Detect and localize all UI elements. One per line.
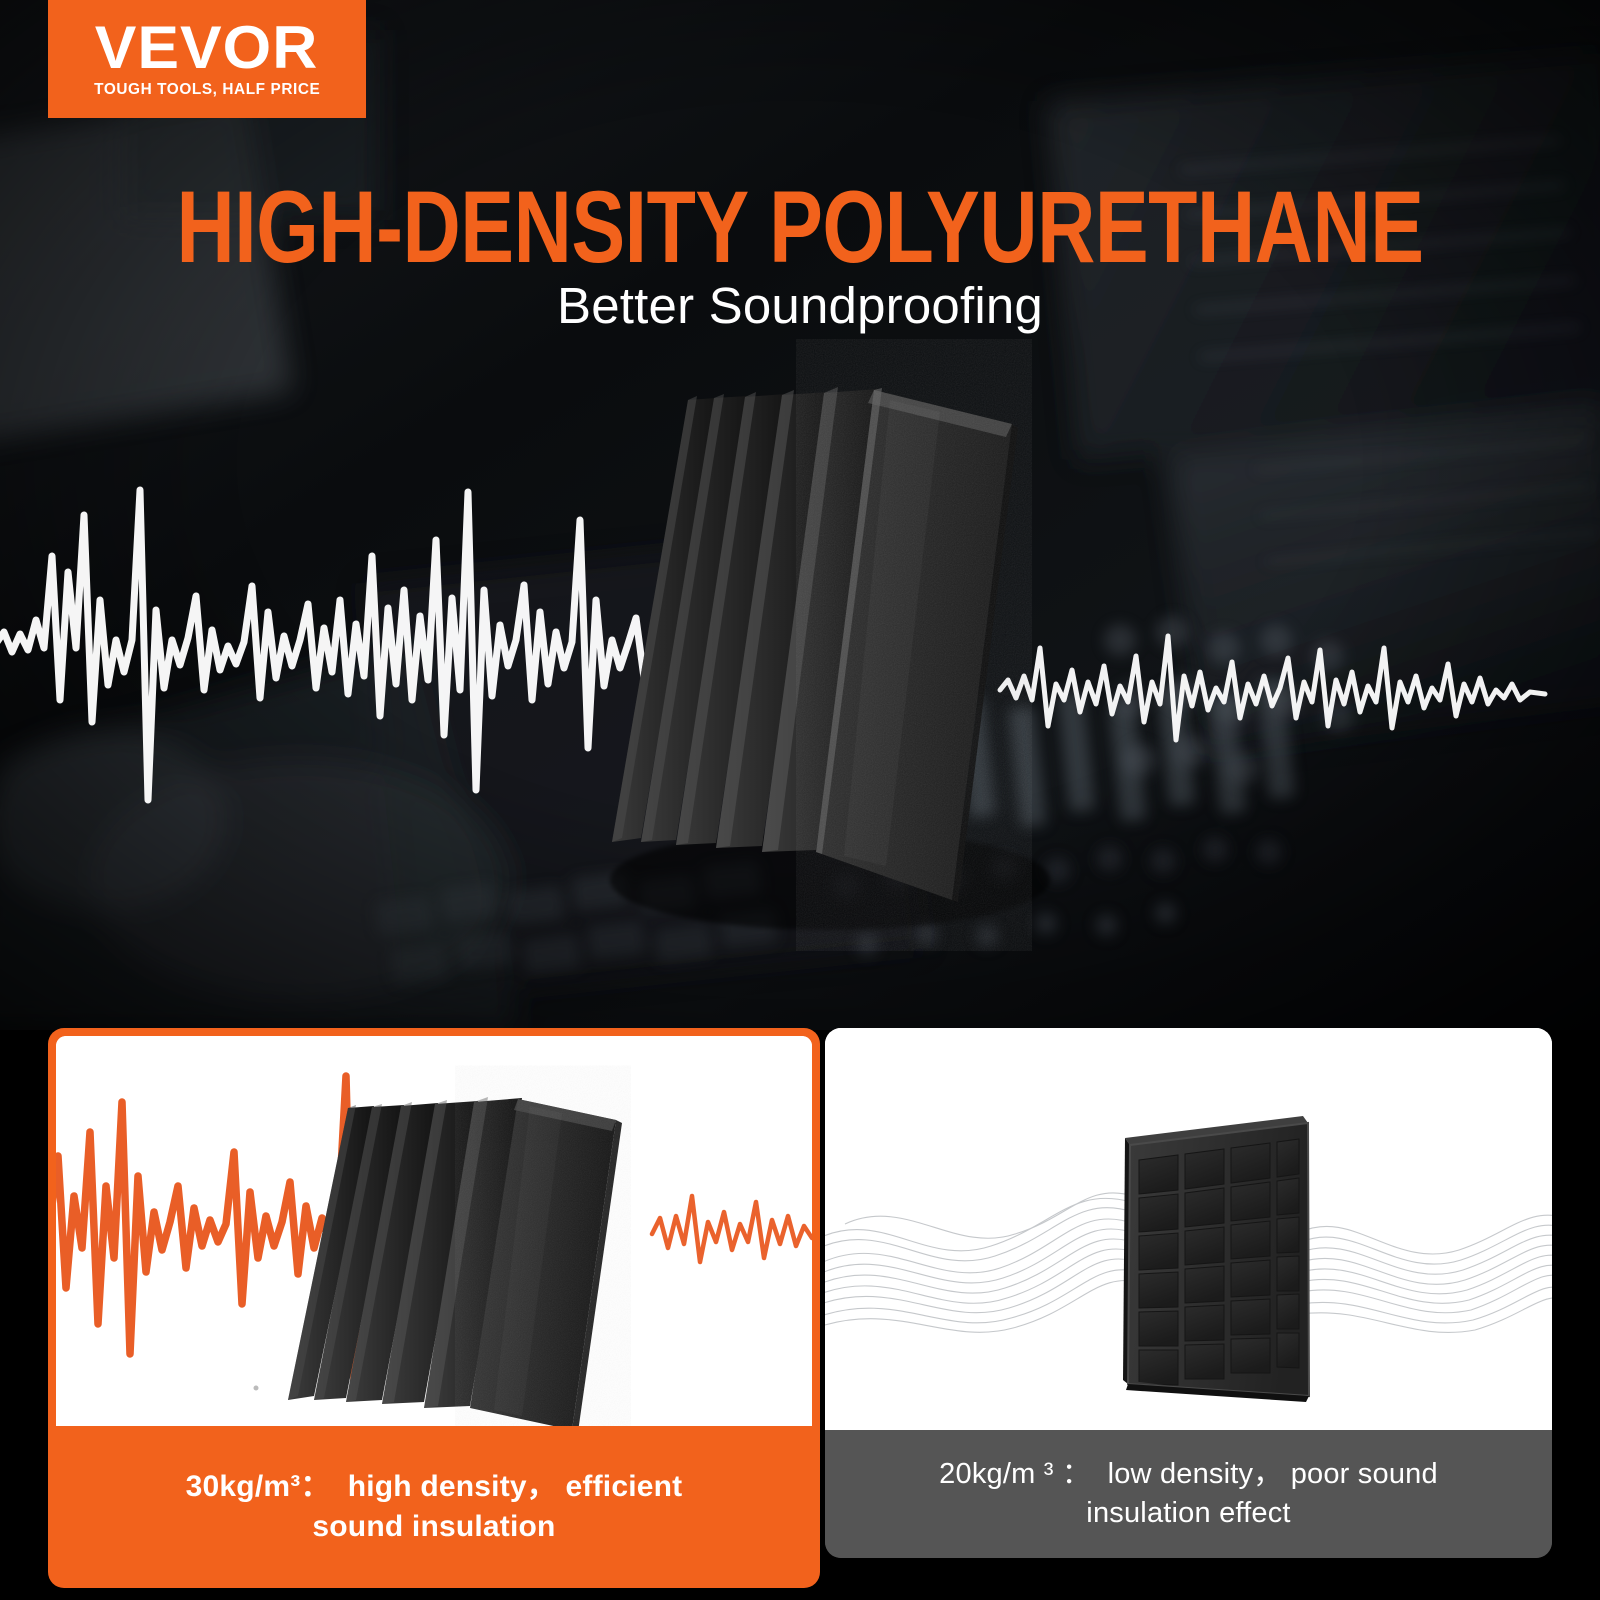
hero-background-photo [0,0,1600,1030]
brand-tagline: TOUGH TOOLS, HALF PRICE [94,81,320,99]
high-density-value: 30kg/m³ [186,1470,301,1503]
high-density-benefit-line2: sound insulation [312,1510,555,1543]
low-density-caption: 20kg/m ³ ： low density， poor sound insul… [825,1430,1552,1558]
comparison-section: 30kg/m³： high density， efficient sound i… [0,1020,1600,1600]
low-density-separator: ： [1062,1458,1091,1490]
low-density-value: 20kg/m ³ [939,1458,1053,1490]
high-density-illustration [56,1036,812,1426]
product-marketing-banner: VEVOR TOUGH TOOLS, HALF PRICE HIGH-DENSI… [0,0,1600,1600]
low-density-benefit-line2: insulation effect [1086,1497,1290,1529]
high-density-caption: 30kg/m³： high density， efficient sound i… [48,1426,820,1588]
high-density-separator: ： [300,1470,330,1503]
comparison-card-low-density: 20kg/m ³ ： low density， poor sound insul… [825,1028,1552,1558]
page-subtitle: Better Soundproofing [0,276,1600,335]
comparison-card-high-density: 30kg/m³： high density， efficient sound i… [48,1028,820,1588]
low-density-foam-panel [1123,1116,1309,1402]
high-density-benefit-line1: high density， efficient [348,1470,683,1503]
brand-name: VEVOR [95,19,319,76]
low-density-benefit-line1: low density， poor sound [1108,1458,1438,1490]
page-title: HIGH-DENSITY POLYURETHANE [32,168,1568,286]
low-density-illustration [825,1028,1552,1430]
vevor-logo: VEVOR TOUGH TOOLS, HALF PRICE [48,0,366,118]
